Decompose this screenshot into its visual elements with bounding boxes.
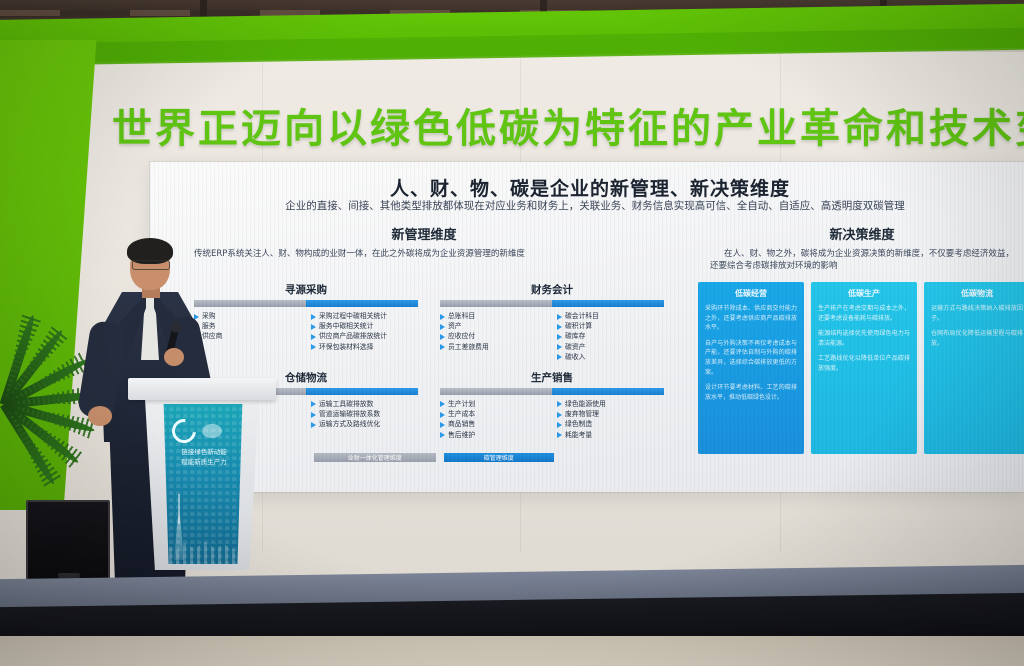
decision-card: 低碳生产 生产排产在考虑交期与成本之外，还要考虑设备能耗与碳排放。 能源结构选择… [811,282,917,454]
left-section-description: 传统ERP系统关注人、财、物构成的业财一体，在此之外碳将成为企业资源管理的新维度 [164,248,684,260]
arrow-icon [557,344,562,350]
arrow-icon [440,401,445,407]
list-item: 绿色制造 [557,419,664,429]
legend-bars: 业财一体化管理维度 碳管理维度 [314,453,554,462]
card-paragraph: 运输方式与路线决策纳入碳排放因子。 [931,304,1023,323]
card-paragraph: 仓网布局优化降低运输里程与碳排放。 [931,329,1023,348]
card-paragraph: 采购环节除成本、供应商交付能力之外，还要考虑供应商产品碳排放水平。 [705,304,797,333]
module-bar-pair [440,388,664,395]
card-header: 低碳经营 [705,288,797,299]
arrow-icon [440,334,445,340]
list-item: 应收应付 [440,331,547,341]
list-item: 碳库存 [557,331,664,341]
arrow-icon [311,334,316,340]
speaker-hand-left [88,406,112,426]
list-item: 服务中碳相关统计 [311,321,418,331]
arrow-icon [557,314,562,320]
arrow-icon [557,324,562,330]
legacy-bar [440,300,552,307]
decision-card: 低碳经营 采购环节除成本、供应商交付能力之外，还要考虑供应商产品碳排放水平。 自… [698,282,804,454]
list-item: 售后维护 [440,430,547,440]
arrow-icon [440,422,445,428]
arrow-icon [311,314,316,320]
list-item: 商品销售 [440,419,547,429]
module-card: 财务会计 总账科目 资产 应收应付 员工差旅费用 碳会计科目 [440,282,664,362]
card-paragraph: 工艺路线优化以降低单位产品碳排放强度。 [818,354,910,373]
podium-slogan-line2: 赋能新质生产力 [170,458,238,468]
list-item: 碳收入 [557,352,664,362]
list-item: 资产 [440,321,547,331]
carbon-bar [306,388,418,395]
skyline-graphic [162,534,244,564]
list-item: 生产成本 [440,409,547,419]
projection-screen: 人、财、物、碳是企业的新管理、新决策维度 企业的直接、间接、其他类型排放都体现在… [150,162,1024,492]
legacy-list: 总账科目 资产 应收应付 员工差旅费用 [440,311,547,362]
slide-right-column: 新决策维度 在人、财、物之外，碳将成为企业资源决策的新维度，不仅要考虑经济效益，… [694,224,1024,474]
decision-card: 低碳物流 运输方式与路线决策纳入碳排放因子。 仓网布局优化降低运输里程与碳排放。 [924,282,1024,454]
arrow-icon [440,432,445,438]
slide-title: 人、财、物、碳是企业的新管理、新决策维度 [150,174,1024,201]
list-item: 环保包装材料选择 [311,342,418,352]
list-item: 供应商产品碳排放统计 [311,331,418,341]
carbon-list: 绿色能源使用 废弃物管理 绿色制造 耗能考量 [557,399,664,440]
carbon-list: 碳会计科目 碳积计算 碳库存 碳资产 碳收入 [557,311,664,362]
arrow-icon [557,334,562,340]
arrow-icon [311,401,316,407]
arrow-icon [311,422,316,428]
card-header: 低碳物流 [931,288,1023,299]
arrow-icon [440,314,445,320]
speaker-hand-right [164,348,184,366]
arrow-icon [311,412,316,418]
arrow-icon [557,422,562,428]
module-title: 寻源采购 [194,282,418,297]
legend-legacy: 业财一体化管理维度 [314,453,436,462]
podium-slogan: 链接绿色新动能 赋能新质生产力 [170,448,238,468]
venue-banner-title: 世界正迈向以绿色低碳为特征的产业革命和技术变革 [112,96,1024,154]
list-item: 废弃物管理 [557,409,664,419]
module-bar-pair [194,300,418,307]
module-card: 生产销售 生产计划 生产成本 商品销售 售后维护 绿色能源使用 [440,370,664,440]
arrow-icon [557,401,562,407]
podium-logo [172,420,236,442]
list-item: 碳会计科目 [557,311,664,321]
arrow-icon [311,324,316,330]
tower-graphic [172,494,188,560]
list-item: 碳资产 [557,342,664,352]
list-item: 运输方式及路线优化 [311,419,418,429]
glasses-icon [132,260,170,270]
arrow-icon [440,344,445,350]
left-section-heading: 新管理维度 [164,224,684,243]
carbon-list: 运输工具碳排放数 管道运输碳排放系数 运输方式及路线优化 [311,399,418,430]
venue-floor [0,636,1024,666]
module-card: 寻源采购 采购 服务 供应商 采购过程中碳相关统计 服务中碳相关 [194,282,418,362]
podium: 链接绿色新动能 赋能新质生产力 [128,378,276,584]
card-paragraph: 生产排产在考虑交期与成本之外，还要考虑设备能耗与碳排放。 [818,304,910,323]
globe-icon [202,424,222,438]
arrow-icon [557,354,562,360]
legend-carbon: 碳管理维度 [444,453,554,462]
list-item: 采购过程中碳相关统计 [311,311,418,321]
list-item: 员工差旅费用 [440,342,547,352]
arrow-icon [557,412,562,418]
module-bar-pair [440,300,664,307]
list-item: 耗能考量 [557,430,664,440]
card-header: 低碳生产 [818,288,910,299]
carbon-bar [306,300,418,307]
legacy-list: 生产计划 生产成本 商品销售 售后维护 [440,399,547,440]
arrow-icon [440,324,445,330]
carbon-list: 采购过程中碳相关统计 服务中碳相关统计 供应商产品碳排放统计 环保包装材料选择 [311,311,418,352]
arrow-icon [311,344,316,350]
list-item: 碳积计算 [557,321,664,331]
legacy-bar [440,388,552,395]
right-section-description: 在人、财、物之外，碳将成为企业资源决策的新维度，不仅要考虑经济效益，还要综合考虑… [694,248,1024,273]
list-item: 生产计划 [440,399,547,409]
slide-subtitle: 企业的直接、间接、其他类型排放都体现在对应业务和财务上，关联业务、财务信息实现高… [172,198,1018,213]
podium-banner: 链接绿色新动能 赋能新质生产力 [162,404,244,564]
card-paragraph: 能源结构选择优先使用绿色电力与清洁能源。 [818,329,910,348]
list-item: 管道运输碳排放系数 [311,409,418,419]
card-paragraph: 自产与外购决策不再仅考虑成本与产能，还要评估自制与外购的碳排放差异，选择综合碳排… [705,339,797,377]
module-title: 财务会计 [440,282,664,297]
screenshot-root: 世界正迈向以绿色低碳为特征的产业革命和技术变革 人、财、物、碳是企业的新管理、新… [0,0,1024,666]
arrow-icon [440,412,445,418]
decision-cards: 低碳经营 采购环节除成本、供应商交付能力之外，还要考虑供应商产品碳排放水平。 自… [698,282,1024,454]
module-title: 生产销售 [440,370,664,385]
list-item: 运输工具碳排放数 [311,399,418,409]
list-item: 绿色能源使用 [557,399,664,409]
arrow-icon [557,432,562,438]
list-item: 总账科目 [440,311,547,321]
carbon-bar [552,300,664,307]
right-section-heading: 新决策维度 [694,224,1024,243]
carbon-bar [552,388,664,395]
c-logo-icon [167,414,201,448]
card-paragraph: 设计环节要考虑材料、工艺的碳排放水平，推动低碳绿色设计。 [705,383,797,402]
podium-slogan-line1: 链接绿色新动能 [170,448,238,458]
podium-top-surface [128,378,276,400]
